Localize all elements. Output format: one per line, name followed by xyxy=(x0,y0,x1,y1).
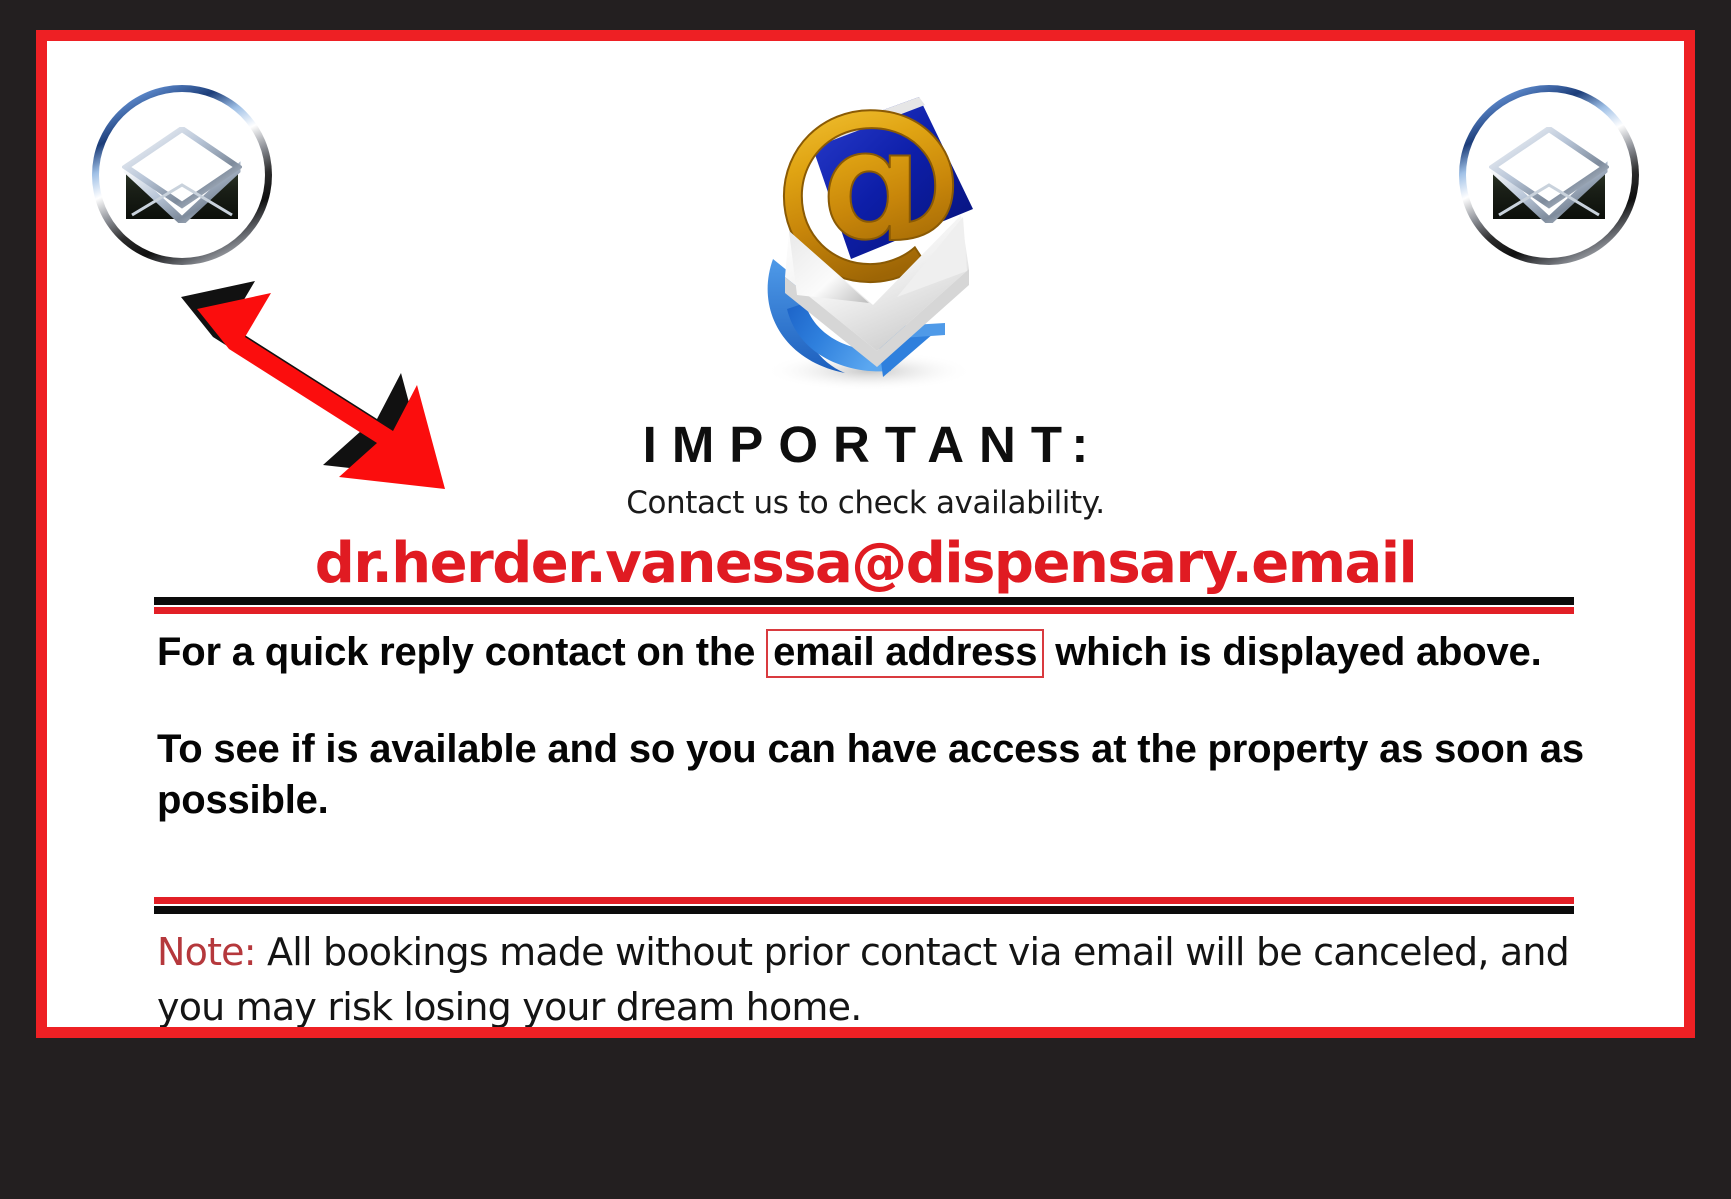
body-text: For a quick reply contact on the email a… xyxy=(157,627,1587,827)
page-title: IMPORTANT: xyxy=(47,415,1684,474)
red-arrow-icon xyxy=(167,281,477,511)
note-label: Note: xyxy=(157,930,256,974)
paragraph-availability: To see if is available and so you can ha… xyxy=(157,724,1587,826)
at-symbol-envelope-icon: @ xyxy=(701,59,1031,399)
paragraph-1-before: For a quick reply contact on the xyxy=(157,630,766,674)
email-address-highlight[interactable]: email address xyxy=(766,629,1044,678)
envelope-icon-left xyxy=(122,127,242,223)
notice-card: @ xyxy=(36,30,1695,1038)
envelope-badge-left xyxy=(92,85,272,265)
note-body: All bookings made without prior contact … xyxy=(157,930,1569,1029)
subtitle: Contact us to check availability. xyxy=(47,485,1684,521)
envelope-badge-right xyxy=(1459,85,1639,265)
divider-top xyxy=(154,597,1574,613)
poster-background: @ xyxy=(0,0,1731,1199)
paragraph-quick-reply: For a quick reply contact on the email a… xyxy=(157,627,1587,678)
contact-email[interactable]: dr.herder.vanessa@dispensary.email xyxy=(47,531,1684,596)
note-text: Note: All bookings made without prior co… xyxy=(157,925,1597,1035)
divider-bottom xyxy=(154,897,1574,913)
paragraph-1-after: which is displayed above. xyxy=(1044,630,1541,674)
envelope-icon-right xyxy=(1489,127,1609,223)
